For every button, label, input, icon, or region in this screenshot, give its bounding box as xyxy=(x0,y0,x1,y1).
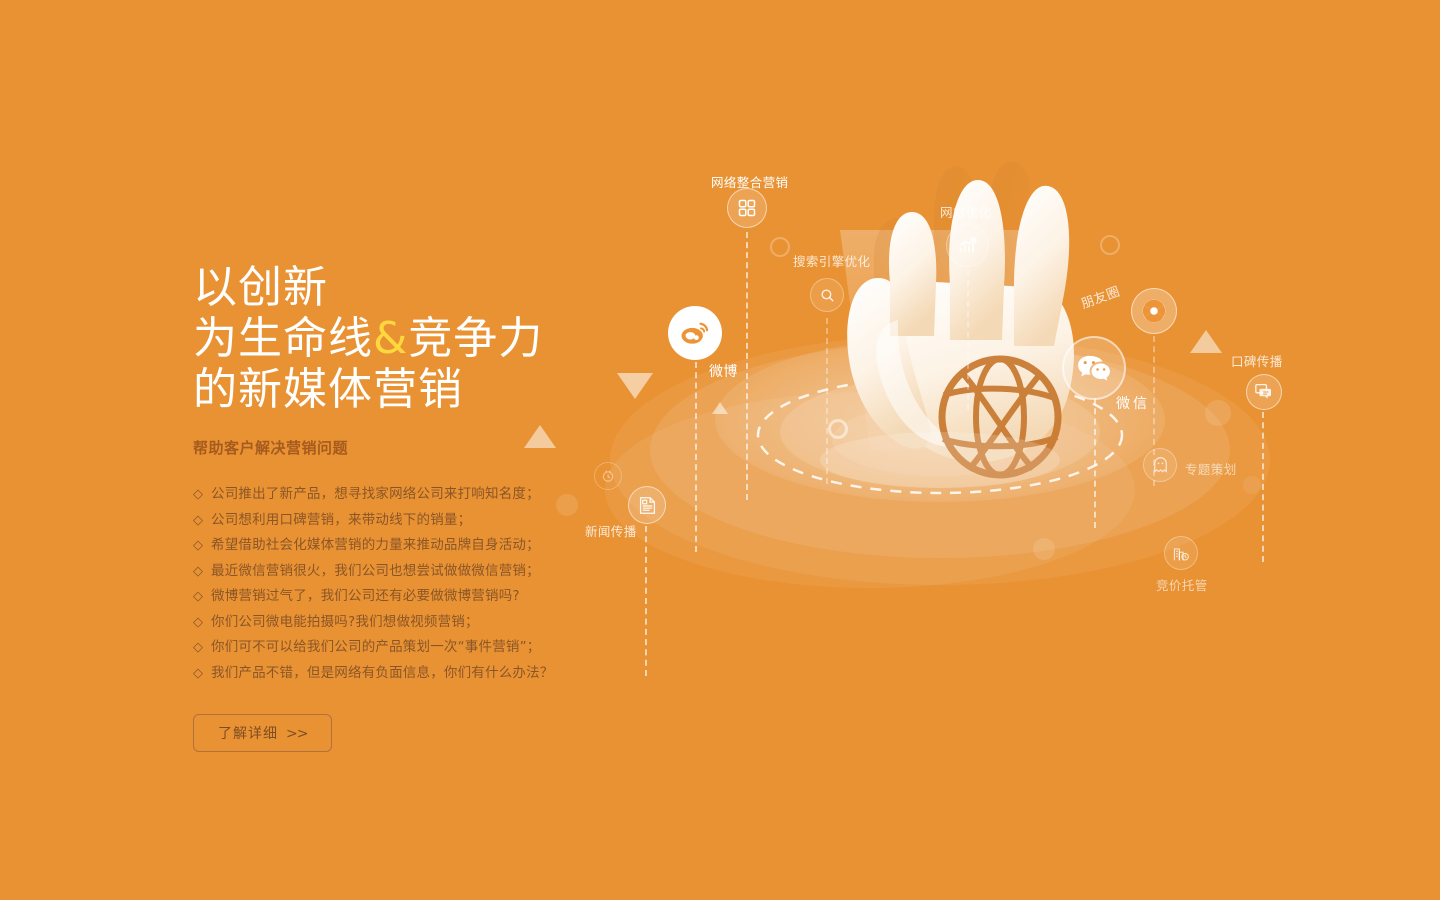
triangle-up-decor-right xyxy=(1190,330,1222,353)
ring-decor-top-right xyxy=(1100,235,1120,255)
magnifier-icon[interactable] xyxy=(810,278,844,312)
ghost-icon[interactable] xyxy=(1143,448,1177,482)
hero-copy: 以创新 为生命线&竞争力 的新媒体营销 帮助客户解决营销问题 ◇公司推出了新产品… xyxy=(193,262,613,752)
diamond-marker-icon: ◇ xyxy=(193,534,211,558)
list-item: ◇公司推出了新产品，想寻找家网络公司来打响知名度； xyxy=(193,482,613,507)
diamond-marker-icon: ◇ xyxy=(193,560,211,584)
headline-line-3: 的新媒体营销 xyxy=(193,364,463,415)
list-item-text: 希望借助社会化媒体营销的力量来推动品牌自身活动； xyxy=(211,537,540,553)
node-label-seo: 搜索引擎优化 xyxy=(793,251,870,270)
hero-banner: 网络整合营销 搜索引擎优化 网站优化 xyxy=(0,0,1440,900)
node-label-bidding: 竞价托管 xyxy=(1156,575,1208,594)
stem-seo xyxy=(826,318,828,484)
ring-decor-upper xyxy=(770,237,790,257)
headline-line-2a: 为生命线 xyxy=(193,313,373,364)
bar-chart-icon[interactable] xyxy=(946,224,989,267)
node-label-site: 网站优化 xyxy=(940,202,992,221)
diamond-marker-icon: ◇ xyxy=(193,636,211,660)
page-title: 以创新 为生命线&竞争力 的新媒体营销 xyxy=(193,262,613,415)
hero-subheading: 帮助客户解决营销问题 xyxy=(193,437,613,458)
list-item: ◇我们产品不错，但是网络有负面信息，你们有什么办法？ xyxy=(193,661,613,686)
triangle-up-decor-small xyxy=(712,402,728,414)
building-chart-glyph xyxy=(1172,544,1190,562)
node-label-wordofmouth: 口碑传播 xyxy=(1231,351,1283,370)
headline-line-1: 以创新 xyxy=(193,262,328,313)
list-item-text: 最近微信营销很火，我们公司也想尝试做做微信营销； xyxy=(211,563,540,579)
stem-news xyxy=(645,526,647,676)
diamond-marker-icon: ◇ xyxy=(193,509,211,533)
grid-icon[interactable] xyxy=(727,188,767,228)
node-label-topic: 专题策划 xyxy=(1185,459,1237,478)
chat-bubbles-glyph xyxy=(1254,383,1274,401)
stem-wordofmouth xyxy=(1262,412,1264,562)
news-page-glyph xyxy=(638,496,657,515)
weibo-icon[interactable] xyxy=(668,306,722,360)
list-item-text: 你们公司微电能拍摄吗?我们想做视频营销； xyxy=(211,614,479,630)
wechat-glyph xyxy=(1076,353,1112,383)
list-item: ◇微博营销过气了，我们公司还有必要做微博营销吗? xyxy=(193,584,613,609)
list-item-text: 公司想利用口碑营销，来带动线下的销量； xyxy=(211,512,471,528)
wechat-icon[interactable] xyxy=(1062,336,1126,400)
stem-integrated xyxy=(746,232,748,500)
pain-point-list: ◇公司推出了新产品，想寻找家网络公司来打响知名度； ◇公司想利用口碑营销，来带动… xyxy=(193,482,613,686)
disc-decor-faint xyxy=(1243,476,1261,494)
ghost-glyph xyxy=(1152,456,1169,474)
bar-chart-glyph xyxy=(957,235,979,257)
building-chart-icon[interactable] xyxy=(1164,536,1198,570)
list-item: ◇希望借助社会化媒体营销的力量来推动品牌自身活动； xyxy=(193,533,613,558)
diamond-marker-icon: ◇ xyxy=(193,611,211,635)
stem-site xyxy=(967,270,969,410)
magnifier-glyph xyxy=(819,287,836,304)
triangle-down-decor xyxy=(617,373,653,399)
node-label-wechat: 微信 xyxy=(1116,393,1150,413)
node-label-weibo: 微博 xyxy=(709,361,738,381)
list-item-text: 我们产品不错，但是网络有负面信息，你们有什么办法？ xyxy=(211,665,554,681)
chat-bubbles-icon[interactable] xyxy=(1246,374,1282,410)
news-page-icon[interactable] xyxy=(628,486,666,524)
stem-wechat xyxy=(1094,398,1096,528)
list-item: ◇公司想利用口碑营销，来带动线下的销量； xyxy=(193,508,613,533)
aperture-glyph xyxy=(1140,297,1168,325)
list-item: ◇最近微信营销很火，我们公司也想尝试做做微信营销； xyxy=(193,559,613,584)
weibo-glyph xyxy=(680,320,710,346)
diamond-marker-icon: ◇ xyxy=(193,662,211,686)
list-item-text: 微博营销过气了，我们公司还有必要做微博营销吗? xyxy=(211,588,520,604)
disc-decor-right xyxy=(1205,400,1231,426)
list-item-text: 你们可不可以给我们公司的产品策划一次“事件营销”； xyxy=(211,639,541,655)
list-item-text: 公司推出了新产品，想寻找家网络公司来打响知名度； xyxy=(211,486,540,502)
headline-line-2b: 竞争力 xyxy=(408,313,543,364)
headline-ampersand: & xyxy=(373,313,408,364)
learn-more-button[interactable]: 了解详细>> xyxy=(193,714,332,752)
grid-glyph xyxy=(737,198,757,218)
ring-decor-center xyxy=(828,419,848,439)
learn-more-label: 了解详细 xyxy=(218,726,278,742)
diamond-marker-icon: ◇ xyxy=(193,483,211,507)
list-item: ◇你们可不可以给我们公司的产品策划一次“事件营销”； xyxy=(193,635,613,660)
double-chevron-right-icon: >> xyxy=(286,726,307,742)
list-item: ◇你们公司微电能拍摄吗?我们想做视频营销； xyxy=(193,610,613,635)
stem-weibo xyxy=(695,362,697,552)
disc-decor-bottom xyxy=(1033,538,1055,560)
aperture-icon[interactable] xyxy=(1131,288,1177,334)
diamond-marker-icon: ◇ xyxy=(193,585,211,609)
